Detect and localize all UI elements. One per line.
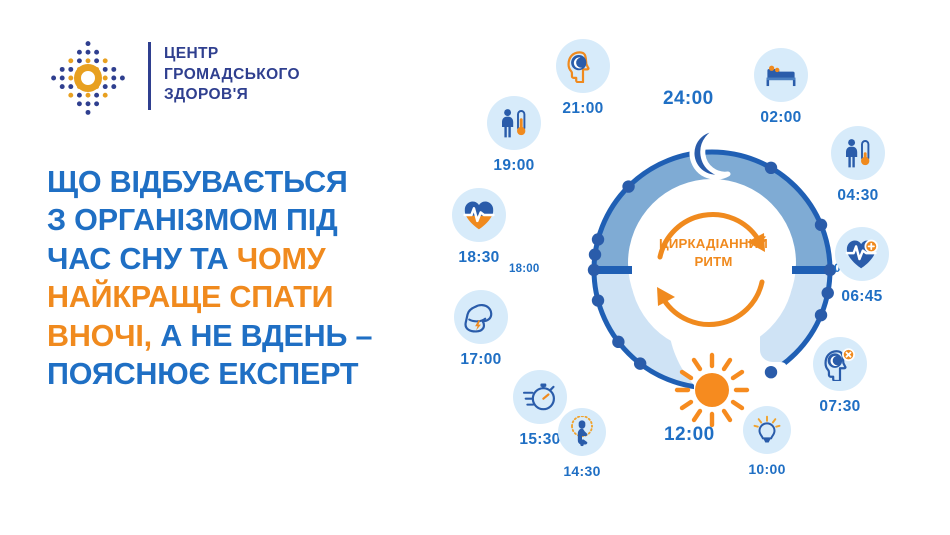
clock-node-label: 18:30: [433, 249, 525, 267]
brand-logo: ЦЕНТР ГРОМАДСЬКОГО ЗДОРОВ'Я: [46, 36, 296, 116]
clock-node-10-00[interactable]: 10:00: [721, 406, 813, 477]
headline-text-accent: ВНОЧІ,: [47, 319, 152, 353]
clock-node-label: 17:00: [435, 351, 527, 369]
headline-text-accent: НАЙКРАЩЕ СПАТИ: [47, 280, 333, 314]
bed-sleep-icon: [754, 48, 808, 102]
person-thermometer-icon: [487, 96, 541, 150]
headline-line-6: ПОЯСНЮЄ ЕКСПЕРТ: [47, 355, 437, 393]
infographic-canvas: ЦЕНТР ГРОМАДСЬКОГО ЗДОРОВ'Я ЩО ВІДБУВАЄТ…: [0, 0, 950, 535]
clock-node-02-00[interactable]: 02:00: [735, 48, 827, 127]
cardinal-time-12-00: 12:00: [664, 424, 715, 446]
clock-node-19-00[interactable]: 19:00: [468, 96, 560, 175]
clock-node-04-30[interactable]: 04:30: [812, 126, 904, 205]
heart-pulse-icon: [452, 188, 506, 242]
clock-node-label: 19:00: [468, 157, 560, 175]
head-moon-icon: [556, 39, 610, 93]
page-title: ЩО ВІДБУВАЄТЬСЯ З ОРГАНІЗМОМ ПІД ЧАС СНУ…: [47, 163, 437, 394]
headline-text-accent: ЧОМУ: [237, 242, 326, 276]
clock-node-17-00[interactable]: 17:00: [435, 290, 527, 369]
clock-node-label: 07:30: [794, 398, 886, 416]
brand-name: ЦЕНТР ГРОМАДСЬКОГО ЗДОРОВ'Я: [164, 44, 300, 106]
headline-line-5: ВНОЧІ, А НЕ ВДЕНЬ –: [47, 317, 437, 355]
lightbulb-icon: [743, 406, 791, 454]
clock-node-label: 14:30: [536, 463, 628, 479]
clock-node-06-45[interactable]: 06:45: [816, 227, 908, 306]
diamond-dot-logo-icon: [46, 36, 130, 120]
muscle-bolt-icon: [454, 290, 508, 344]
person-thermometer-icon: [831, 126, 885, 180]
cardinal-time-24-00: 24:00: [663, 88, 714, 110]
headline-line-3: ЧАС СНУ ТА ЧОМУ: [47, 240, 437, 278]
meditating-person-icon: [558, 408, 606, 456]
headline-text: З ОРГАНІЗМОМ ПІД: [47, 203, 338, 237]
headline-line-2: З ОРГАНІЗМОМ ПІД: [47, 201, 437, 239]
headline-line-4: НАЙКРАЩЕ СПАТИ: [47, 278, 437, 316]
head-moon-stop-icon: [813, 337, 867, 391]
clock-node-14-30[interactable]: 14:30: [536, 408, 628, 479]
headline-line-1: ЩО ВІДБУВАЄТЬСЯ: [47, 163, 437, 201]
clock-node-07-30[interactable]: 07:30: [794, 337, 886, 416]
headline-text: А НЕ ВДЕНЬ –: [152, 319, 372, 353]
clock-node-label: 04:30: [812, 187, 904, 205]
clock-node-label: 02:00: [735, 109, 827, 127]
clock-node-label: 06:45: [816, 288, 908, 306]
clock-node-18-30[interactable]: 18:30: [433, 188, 525, 267]
heart-pulse-plus-icon: [835, 227, 889, 281]
clock-node-label: 10:00: [721, 461, 813, 477]
logo-divider: [148, 42, 151, 110]
headline-text: ПОЯСНЮЄ ЕКСПЕРТ: [47, 357, 358, 391]
headline-text: ЩО ВІДБУВАЄТЬСЯ: [47, 165, 348, 199]
headline-text: ЧАС СНУ ТА: [47, 242, 237, 276]
